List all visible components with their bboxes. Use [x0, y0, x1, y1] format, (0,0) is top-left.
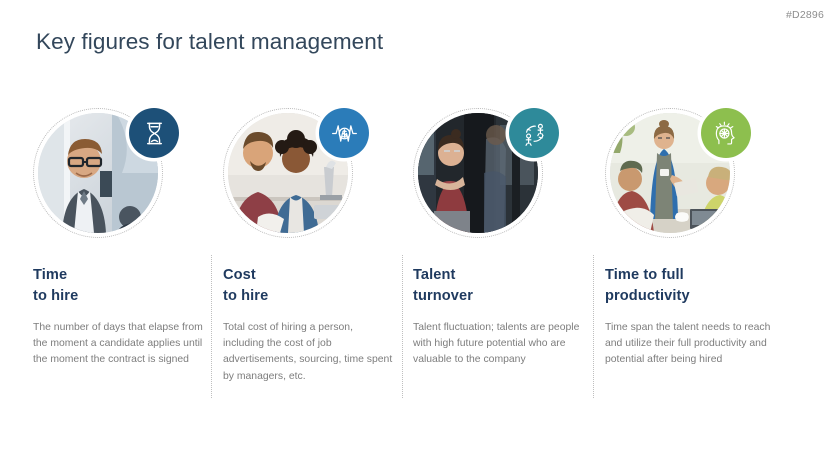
- slide-canvas: #D2896 Key figures for talent management: [0, 0, 836, 470]
- badge-head-idea-brain: [701, 108, 751, 158]
- figure-heading-line2: turnover: [413, 288, 473, 304]
- figure-heading-line2: to hire: [33, 288, 78, 304]
- figure-heading-line2: productivity: [605, 288, 690, 304]
- figure-media: [223, 108, 369, 240]
- slide-id-label: #D2896: [786, 9, 824, 21]
- badge-people-turnover: [509, 108, 559, 158]
- figure-heading-line1: Cost: [223, 267, 256, 283]
- head-idea-brain-icon: [713, 120, 740, 147]
- figures-columns: Time to hire The number of days that ela…: [0, 108, 836, 408]
- figure-media: [413, 108, 559, 240]
- figure-media: [33, 108, 179, 240]
- figure-description: The number of days that elapse from the …: [33, 320, 205, 369]
- figure-card-cost-to-hire: Cost to hire Total cost of hiring a pers…: [223, 108, 395, 385]
- figure-heading: Cost to hire: [223, 265, 395, 308]
- figure-heading: Time to full productivity: [605, 265, 777, 308]
- figure-description: Total cost of hiring a person, including…: [223, 320, 395, 386]
- column-divider: [593, 255, 594, 398]
- figure-heading-line1: Talent: [413, 267, 456, 283]
- column-divider: [211, 255, 212, 398]
- figure-card-talent-turnover: Talent turnover Talent fluctuation; tale…: [413, 108, 585, 369]
- column-divider: [402, 255, 403, 398]
- people-turnover-icon: [521, 120, 548, 147]
- figure-description: Talent fluctuation; talents are people w…: [413, 320, 585, 369]
- figure-heading: Talent turnover: [413, 265, 585, 308]
- figure-description: Time span the talent needs to reach and …: [605, 320, 777, 369]
- figure-heading: Time to hire: [33, 265, 205, 308]
- figure-media: [605, 108, 751, 240]
- figure-card-time-to-full-productivity: Time to full productivity Time span the …: [605, 108, 777, 369]
- figure-card-time-to-hire: Time to hire The number of days that ela…: [33, 108, 205, 369]
- page-title: Key figures for talent management: [36, 29, 383, 55]
- figure-heading-line2: to hire: [223, 288, 268, 304]
- figure-heading-line1: Time: [33, 267, 67, 283]
- badge-hourglass: [129, 108, 179, 158]
- badge-pulse-dollar: [319, 108, 369, 158]
- hourglass-icon: [141, 120, 168, 147]
- pulse-dollar-icon: [331, 120, 358, 147]
- figure-heading-line1: Time to full: [605, 267, 684, 283]
